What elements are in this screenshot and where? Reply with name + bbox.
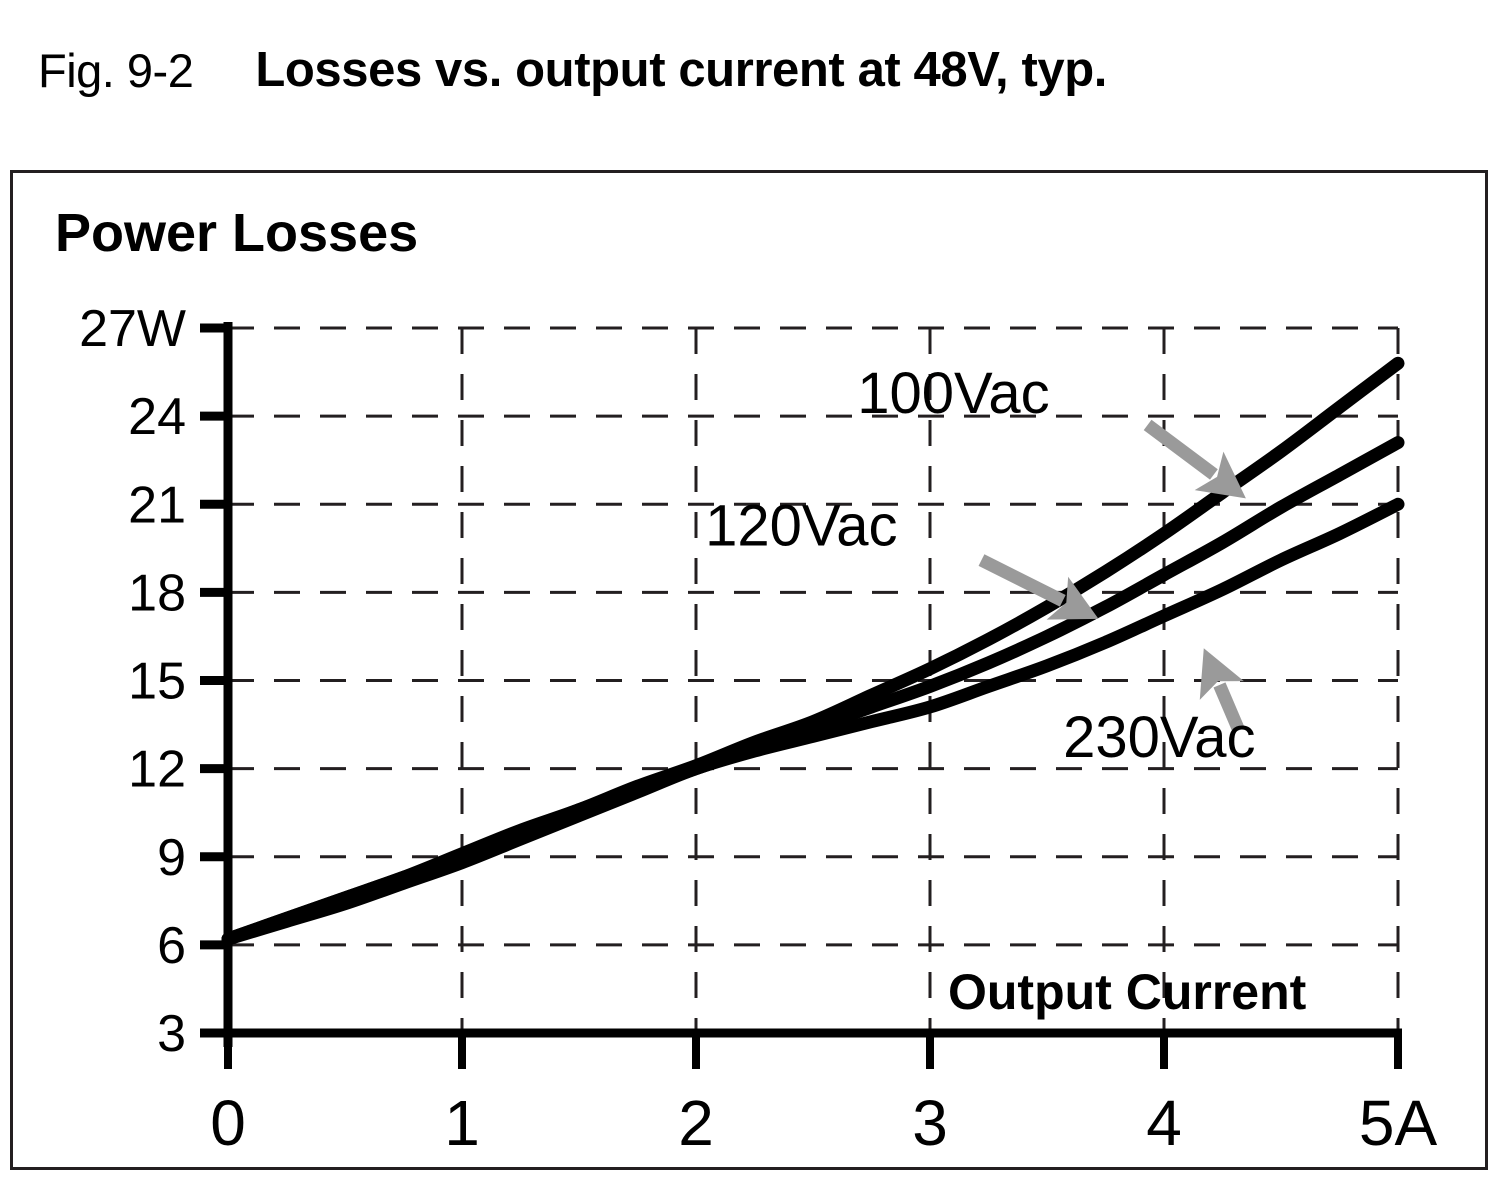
y-axis-tick-label: 21 — [128, 476, 186, 534]
figure-number: Fig. 9-2 — [38, 43, 193, 98]
x-axis-tick-label: 0 — [210, 1087, 246, 1159]
y-axis-tick-label: 15 — [128, 653, 186, 711]
y-axis-tick-label: 9 — [157, 829, 186, 887]
figure-title: Losses vs. output current at 48V, typ. — [255, 42, 1107, 98]
chart-plot-area: 369121518212427W 012345A 100Vac120Vac230… — [13, 173, 1485, 1167]
y-axis-tick-label: 12 — [128, 741, 186, 799]
x-axis-tick-label: 1 — [444, 1087, 480, 1159]
annotation-arrow-shaft — [1148, 425, 1214, 474]
series-annotation-label-120vac: 120Vac — [705, 493, 897, 558]
x-axis-tick-label: 3 — [912, 1087, 948, 1159]
x-axis-tick-label: 4 — [1146, 1087, 1182, 1159]
losses-vs-output-current-chart: 369121518212427W 012345A 100Vac120Vac230… — [13, 173, 1485, 1167]
annotation-arrows — [981, 425, 1245, 731]
x-axis-title: Output Current — [948, 964, 1307, 1020]
x-axis-tick-labels: 012345A — [210, 1087, 1437, 1159]
y-axis-tick-label: 18 — [128, 564, 186, 622]
figure-caption: Fig. 9-2 Losses vs. output current at 48… — [0, 0, 1500, 140]
y-axis-tick-labels: 369121518212427W — [79, 300, 186, 1063]
y-axis-tick-label: 24 — [128, 388, 186, 446]
y-axis-tick-label: 6 — [157, 917, 186, 975]
y-axis-tick-label: 3 — [157, 1005, 186, 1063]
series-annotation-label-230vac: 230Vac — [1063, 705, 1255, 770]
y-axis-title: Power Losses — [55, 203, 418, 263]
y-axis-tick-label: 27W — [79, 300, 186, 358]
x-axis-tick-label: 2 — [678, 1087, 714, 1159]
series-annotation-label-100vac: 100Vac — [857, 361, 1049, 426]
annotation-arrow-shaft — [981, 560, 1062, 601]
x-axis-tick-label: 5A — [1359, 1087, 1438, 1159]
series-curve-100vac — [228, 363, 1398, 939]
data-series-curves — [228, 363, 1398, 939]
figure-frame: 369121518212427W 012345A 100Vac120Vac230… — [10, 170, 1488, 1170]
